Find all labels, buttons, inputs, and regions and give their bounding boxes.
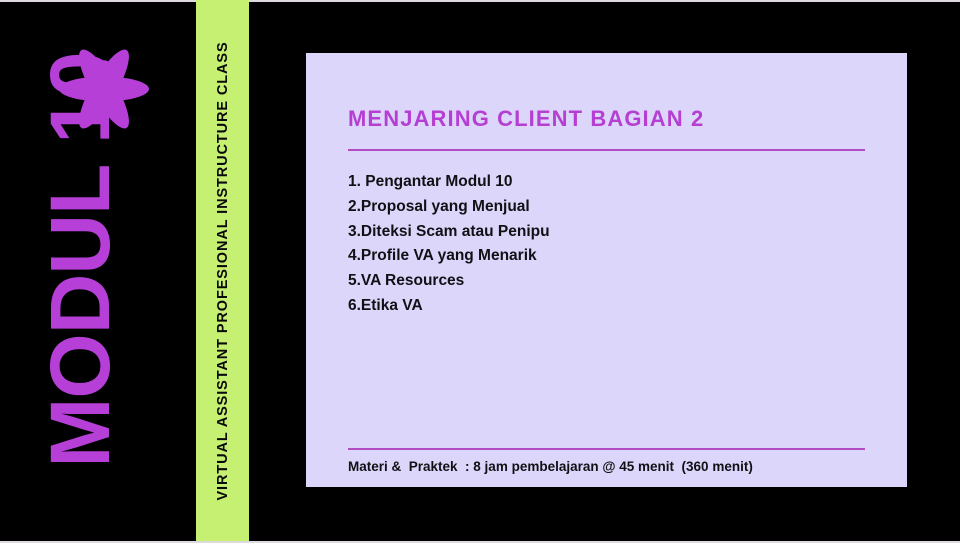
side-strip-label: VIRTUAL ASSISTANT PROFESIONAL INSTRUCTUR… [200, 36, 246, 506]
title-divider [348, 149, 865, 151]
left-panel: MODUL 10 [0, 0, 196, 543]
content-card-inner: MENJARING CLIENT BAGIAN 2 1. Pengantar M… [348, 53, 865, 487]
footer-divider [348, 448, 865, 450]
module-label: MODUL 10 [25, 70, 135, 450]
agenda-item: 3.Diteksi Scam atau Penipu [348, 220, 550, 245]
content-card: MENJARING CLIENT BAGIAN 2 1. Pengantar M… [306, 53, 907, 487]
agenda-item: 1. Pengantar Modul 10 [348, 170, 550, 195]
presentation-slide: MODUL 10 VIRTUAL ASSISTANT PROFESIONAL I… [0, 0, 960, 543]
slide-title: MENJARING CLIENT BAGIAN 2 [348, 106, 704, 132]
agenda-item: 4.Profile VA yang Menarik [348, 244, 550, 269]
footer-note: Materi & Praktek : 8 jam pembelajaran @ … [348, 459, 753, 474]
agenda-item: 6.Etika VA [348, 294, 550, 319]
agenda-item: 2.Proposal yang Menjual [348, 195, 550, 220]
agenda-item: 5.VA Resources [348, 269, 550, 294]
side-strip: VIRTUAL ASSISTANT PROFESIONAL INSTRUCTUR… [196, 0, 249, 543]
agenda-list: 1. Pengantar Modul 10 2.Proposal yang Me… [348, 170, 550, 319]
